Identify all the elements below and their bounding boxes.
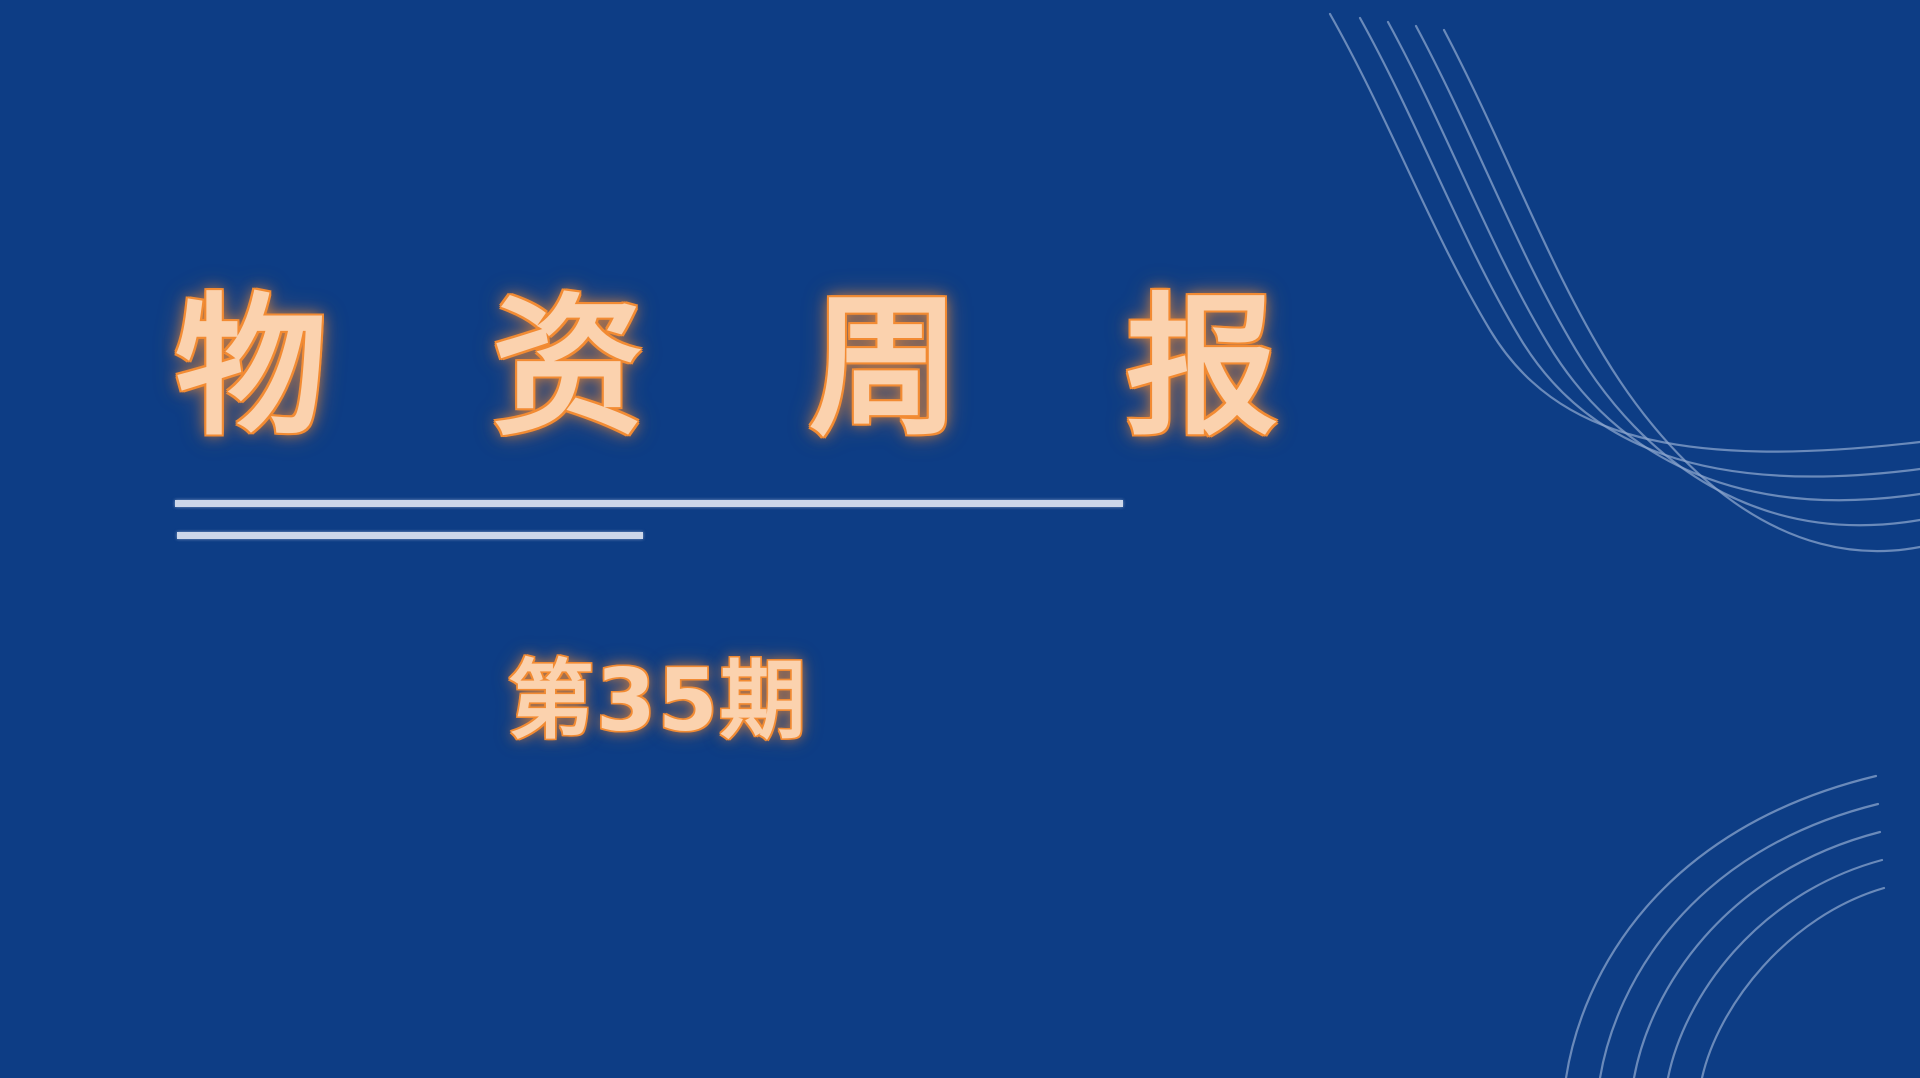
wave-decoration-top-right bbox=[1280, 0, 1920, 580]
wave-line-br-5 bbox=[1702, 888, 1884, 1078]
wave-line-br-2 bbox=[1600, 804, 1878, 1078]
wave-line-tr-2 bbox=[1360, 18, 1920, 477]
title-underline-short bbox=[177, 532, 643, 539]
wave-decoration-bottom-right bbox=[1260, 598, 1920, 1078]
wave-line-br-3 bbox=[1634, 832, 1880, 1078]
page-title: 物 资 周 报 bbox=[175, 278, 1135, 457]
wave-line-tr-3 bbox=[1388, 22, 1920, 500]
wave-line-tr-1 bbox=[1330, 14, 1920, 452]
issue-number-label: 第35期 bbox=[508, 650, 808, 753]
title-slide: 物 资 周 报 第35期 bbox=[0, 0, 1920, 1078]
wave-line-tr-4 bbox=[1416, 26, 1920, 525]
title-underline-long bbox=[175, 500, 1123, 507]
wave-line-br-4 bbox=[1668, 860, 1882, 1078]
title-block: 物 资 周 报 bbox=[175, 278, 1135, 457]
wave-line-tr-5 bbox=[1444, 30, 1920, 551]
wave-line-br-1 bbox=[1566, 776, 1876, 1078]
